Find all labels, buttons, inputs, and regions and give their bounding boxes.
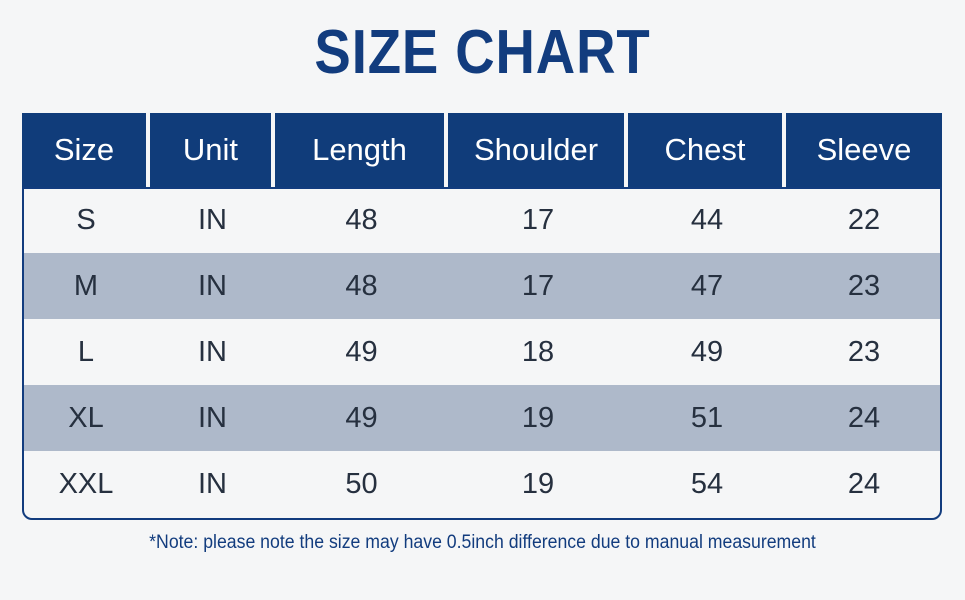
cell-unit: IN xyxy=(150,187,275,253)
column-header-shoulder: Shoulder xyxy=(448,113,628,187)
cell-sleeve: 22 xyxy=(786,187,942,253)
table-row: XL IN 49 19 51 24 xyxy=(22,385,942,451)
table-row: S IN 48 17 44 22 xyxy=(22,187,942,253)
cell-sleeve: 23 xyxy=(786,253,942,319)
cell-size: L xyxy=(22,319,150,385)
cell-shoulder: 17 xyxy=(448,187,628,253)
cell-shoulder: 17 xyxy=(448,253,628,319)
table-row: XXL IN 50 19 54 24 xyxy=(22,451,942,517)
cell-size: XXL xyxy=(22,451,150,517)
cell-length: 50 xyxy=(275,451,448,517)
cell-sleeve: 24 xyxy=(786,451,942,517)
cell-length: 49 xyxy=(275,319,448,385)
table-header-row: Size Unit Length Shoulder Chest Sleeve xyxy=(22,113,942,187)
table-header: Size Unit Length Shoulder Chest Sleeve xyxy=(22,113,942,187)
size-chart-table: Size Unit Length Shoulder Chest Sleeve S… xyxy=(22,113,942,517)
cell-chest: 44 xyxy=(628,187,786,253)
page-title: SIZE CHART xyxy=(58,20,907,86)
cell-chest: 51 xyxy=(628,385,786,451)
measurement-note: *Note: please note the size may have 0.5… xyxy=(34,531,931,555)
size-chart-page: SIZE CHART Size Unit Length Shoulder Che… xyxy=(0,0,965,600)
column-header-unit: Unit xyxy=(150,113,275,187)
cell-sleeve: 23 xyxy=(786,319,942,385)
cell-size: S xyxy=(22,187,150,253)
cell-sleeve: 24 xyxy=(786,385,942,451)
cell-size: XL xyxy=(22,385,150,451)
cell-unit: IN xyxy=(150,385,275,451)
size-chart-table-wrapper: Size Unit Length Shoulder Chest Sleeve S… xyxy=(22,113,942,517)
cell-shoulder: 19 xyxy=(448,451,628,517)
cell-unit: IN xyxy=(150,319,275,385)
column-header-length: Length xyxy=(275,113,448,187)
cell-chest: 47 xyxy=(628,253,786,319)
table-body: S IN 48 17 44 22 M IN 48 17 47 23 L xyxy=(22,187,942,517)
cell-shoulder: 18 xyxy=(448,319,628,385)
table-row: L IN 49 18 49 23 xyxy=(22,319,942,385)
column-header-sleeve: Sleeve xyxy=(786,113,942,187)
cell-unit: IN xyxy=(150,253,275,319)
cell-length: 49 xyxy=(275,385,448,451)
cell-shoulder: 19 xyxy=(448,385,628,451)
cell-unit: IN xyxy=(150,451,275,517)
column-header-size: Size xyxy=(22,113,150,187)
cell-length: 48 xyxy=(275,253,448,319)
cell-chest: 54 xyxy=(628,451,786,517)
cell-size: M xyxy=(22,253,150,319)
column-header-chest: Chest xyxy=(628,113,786,187)
table-row: M IN 48 17 47 23 xyxy=(22,253,942,319)
cell-chest: 49 xyxy=(628,319,786,385)
cell-length: 48 xyxy=(275,187,448,253)
